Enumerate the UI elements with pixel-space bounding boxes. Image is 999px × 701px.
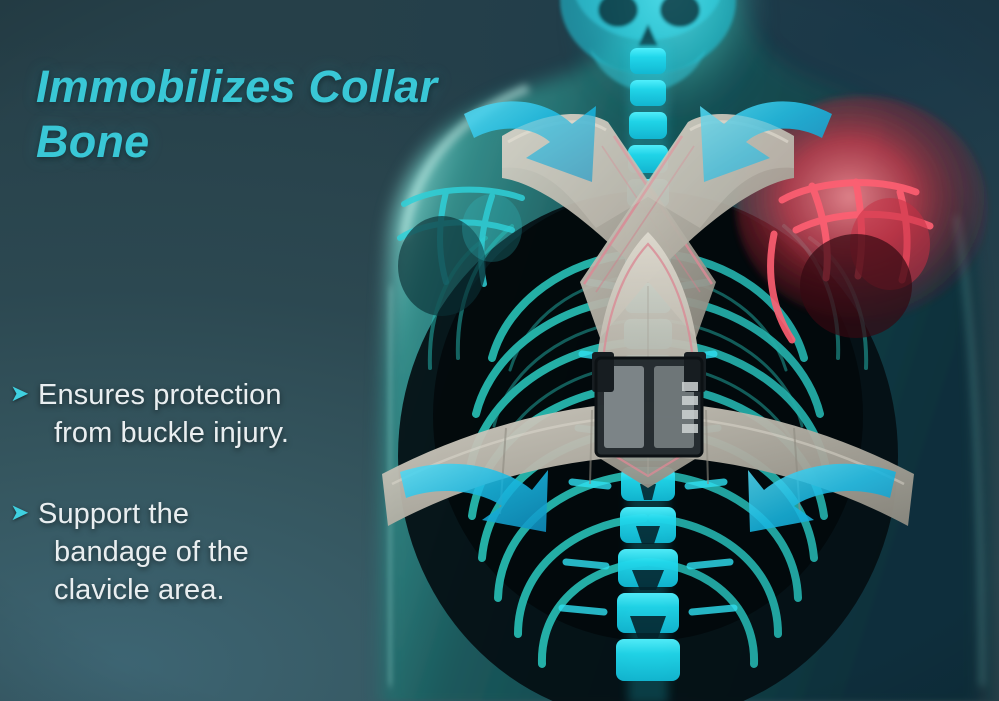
bullet-line: clavicle area. [54,571,249,609]
title-line-1: Immobilizes Collar [36,61,437,112]
list-item: ➤ Ensures protection from buckle injury. [10,376,350,453]
bullet-text: Ensures protection from buckle injury. [38,376,289,453]
title-line-2: Bone [36,115,536,170]
bullet-line: from buckle injury. [54,414,289,452]
feature-bullet-list: ➤ Ensures protection from buckle injury.… [10,376,350,651]
bullet-line: Ensures protection [38,376,289,414]
list-item: ➤ Support the bandage of the clavicle ar… [10,495,350,610]
bullet-text: Support the bandage of the clavicle area… [38,495,249,610]
arrow-bullet-icon: ➤ [10,382,38,405]
arrow-bullet-icon: ➤ [10,501,38,524]
bullet-line: Support the [38,495,249,533]
slide-canvas: Immobilizes Collar Bone ➤ Ensures protec… [0,0,999,701]
page-title: Immobilizes Collar Bone [36,60,536,170]
bullet-line: bandage of the [54,533,249,571]
